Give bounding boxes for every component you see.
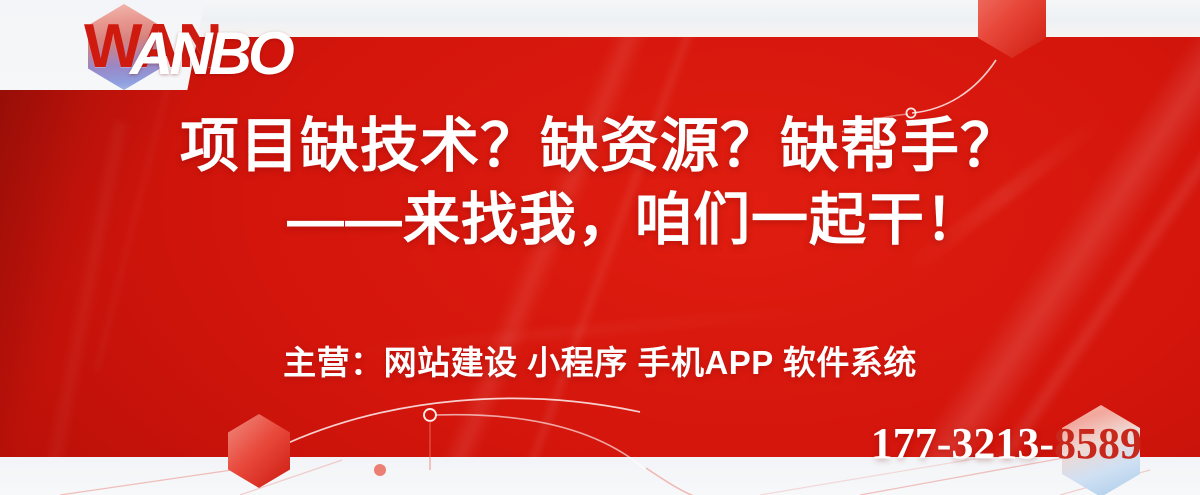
subtitle-services: 主营：网站建设 小程序 手机APP 软件系统 bbox=[0, 336, 1200, 384]
headline: 项目缺技术？缺资源？缺帮手？ ——来找我，咱们一起干！ bbox=[0, 116, 1200, 251]
phone-suffix: 8589 bbox=[1054, 419, 1142, 468]
headline-line-2: ——来找我，咱们一起干！ bbox=[0, 191, 1200, 250]
logo-wordmark-text: ANBO bbox=[130, 24, 291, 84]
promo-banner: WAN ANBO 项目缺技术？缺资源？缺帮手？ ——来找我，咱们一起干！ 主营：… bbox=[0, 0, 1200, 495]
phone-prefix: 177-3213- bbox=[871, 419, 1054, 468]
contact-phone-number[interactable]: 177-3213-8589 bbox=[871, 418, 1142, 469]
brand-logo[interactable]: WAN ANBO bbox=[84, 16, 314, 88]
headline-line-1: 项目缺技术？缺资源？缺帮手？ bbox=[0, 116, 1200, 177]
